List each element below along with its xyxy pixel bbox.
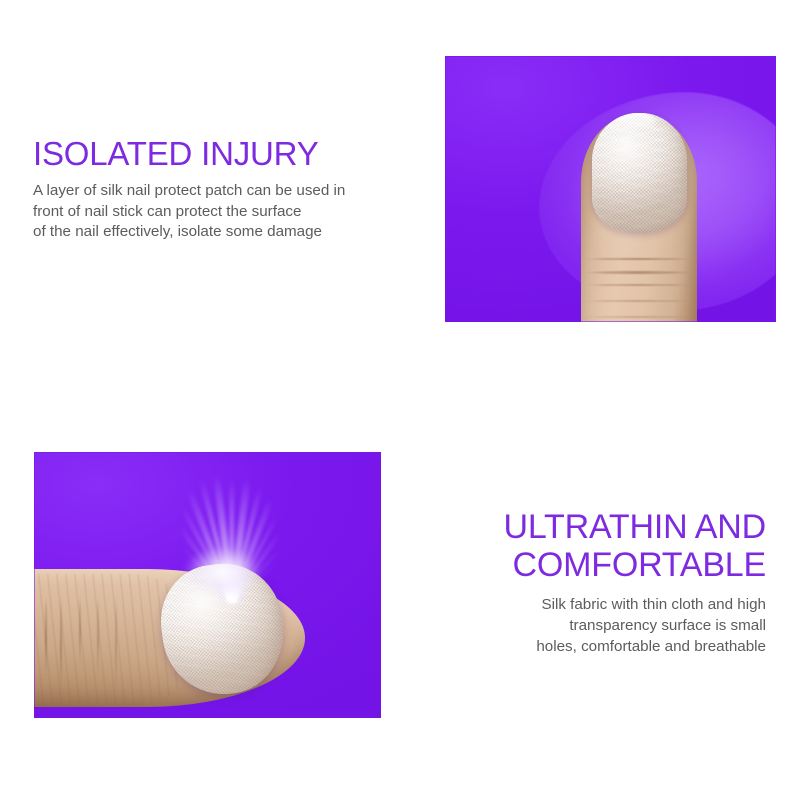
section-headline-isolated-injury: ISOLATED INJURY bbox=[33, 136, 433, 172]
knuckle-crease bbox=[584, 284, 693, 286]
section-body-isolated-injury: A layer of silk nail protect patch can b… bbox=[33, 181, 433, 243]
infographic-canvas: ISOLATED INJURY A layer of silk nail pro… bbox=[0, 0, 800, 800]
photo-fingertip-with-light-rays-horizontal bbox=[34, 452, 381, 718]
body-line: of the nail effectively, isolate some da… bbox=[33, 222, 433, 243]
knuckle-crease bbox=[584, 300, 693, 302]
body-line: front of nail stick can protect the surf… bbox=[33, 202, 433, 223]
knuckle-crease bbox=[584, 258, 693, 260]
body-line: holes, comfortable and breathable bbox=[405, 637, 766, 658]
fingertip-glow bbox=[173, 542, 270, 601]
section-isolated-injury-text: ISOLATED INJURY A layer of silk nail pro… bbox=[33, 136, 433, 243]
body-line: transparency surface is small bbox=[405, 616, 766, 637]
silk-mesh-patch bbox=[592, 113, 686, 233]
section-headline-ultrathin-and-comfortable: ULTRATHIN AND COMFORTABLE bbox=[405, 508, 766, 584]
knuckle-crease bbox=[584, 316, 693, 318]
body-line: A layer of silk nail protect patch can b… bbox=[33, 181, 433, 202]
photo-fingertip-with-silk-patch-vertical bbox=[445, 56, 776, 322]
section-body-ultrathin-and-comfortable: Silk fabric with thin cloth and high tra… bbox=[405, 595, 766, 657]
knuckle-crease bbox=[584, 271, 693, 274]
section-ultrathin-and-comfortable-text: ULTRATHIN AND COMFORTABLE Silk fabric wi… bbox=[405, 508, 766, 657]
body-line: Silk fabric with thin cloth and high bbox=[405, 595, 766, 616]
